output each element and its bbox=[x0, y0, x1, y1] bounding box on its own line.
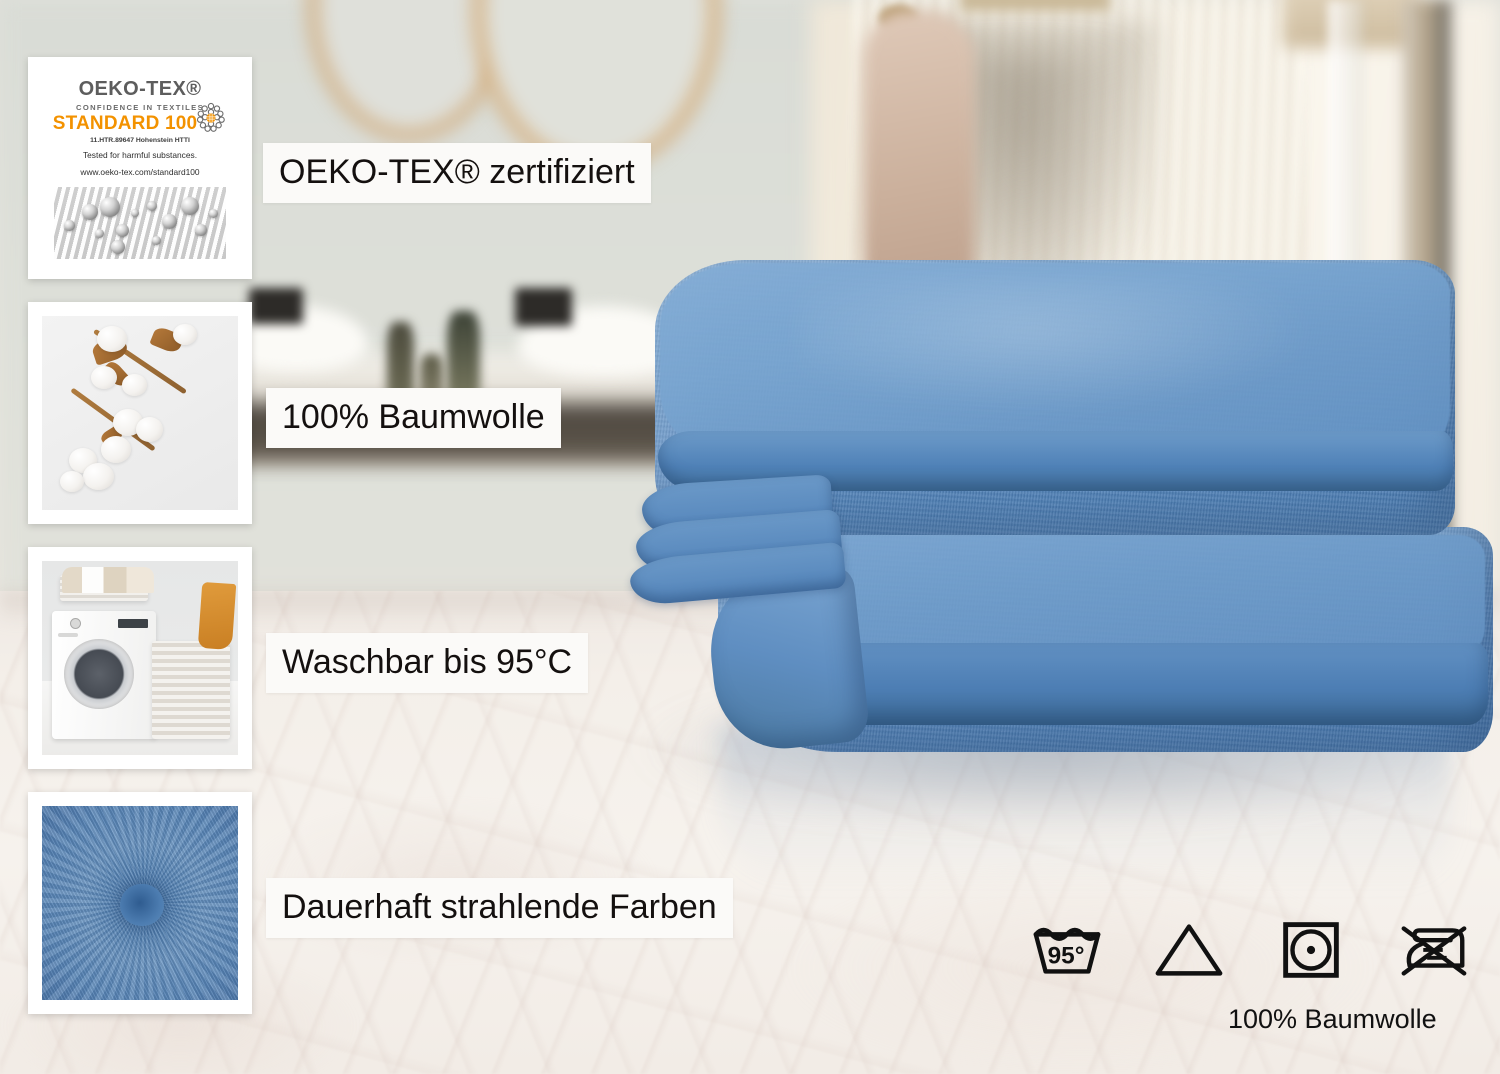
faucet-right bbox=[515, 288, 572, 327]
product-marketing-image: OEKO-TEX® CONFIDENCE IN TEXTILES STANDAR… bbox=[0, 0, 1500, 1074]
wash-tub-icon: 95° bbox=[1028, 918, 1106, 980]
feature-banner-oeko-tex: OEKO-TEX® zertifiziert bbox=[263, 143, 651, 203]
washing-machine-dial bbox=[70, 618, 81, 629]
oeko-tex-flower-icon bbox=[194, 101, 228, 135]
laundry-hamper bbox=[152, 641, 230, 739]
oeko-tex-label: OEKO-TEX® CONFIDENCE IN TEXTILES STANDAR… bbox=[42, 71, 238, 265]
thumbnail-oeko-tex-certificate: OEKO-TEX® CONFIDENCE IN TEXTILES STANDAR… bbox=[28, 57, 252, 279]
oeko-tex-claim: Tested for harmful substances. bbox=[42, 149, 238, 161]
faucet-left bbox=[249, 288, 303, 325]
feature-banner-colorfast: Dauerhaft strahlende Farben bbox=[266, 878, 733, 938]
oeko-tex-certificate-number: 11.HTR.89647 Hohenstein HTTI bbox=[42, 137, 238, 144]
feature-banner-cotton: 100% Baumwolle bbox=[266, 388, 561, 448]
washing-machine bbox=[52, 611, 156, 739]
towel-swirl-center bbox=[120, 884, 163, 927]
orange-towel-on-hamper bbox=[198, 582, 237, 650]
svg-text:95°: 95° bbox=[1048, 943, 1085, 970]
washing-machine-door bbox=[64, 639, 134, 709]
tumble-dry-icon bbox=[1272, 918, 1350, 980]
folded-linens bbox=[62, 567, 154, 593]
oeko-tex-brand: OEKO-TEX® bbox=[42, 79, 238, 99]
washing-machine-display bbox=[118, 619, 148, 628]
bleach-triangle-icon bbox=[1150, 918, 1228, 980]
cotton-branch-photo bbox=[42, 316, 238, 510]
thumbnail-cotton-branch bbox=[28, 302, 252, 524]
oeko-tex-url: www.oeko-tex.com/standard100 bbox=[42, 166, 238, 178]
towel-upper-top-face bbox=[660, 263, 1450, 448]
stacked-towels-product bbox=[600, 255, 1480, 815]
thumbnail-towel-texture bbox=[28, 792, 252, 1014]
background-shelf bbox=[960, 0, 1110, 11]
blue-towel-swirl-photo bbox=[42, 806, 238, 1000]
thumbnail-washing-machine bbox=[28, 547, 252, 769]
oeko-tex-fabric-illustration bbox=[54, 187, 226, 259]
care-caption-material: 100% Baumwolle bbox=[1228, 1004, 1437, 1035]
feature-banner-washable: Waschbar bis 95°C bbox=[266, 633, 588, 693]
washing-machine-drawer-handle bbox=[58, 633, 78, 637]
care-symbols-group: 95° 100% Baumwolle bbox=[1020, 918, 1480, 1048]
laundry-room-photo bbox=[42, 561, 238, 755]
no-iron-icon bbox=[1394, 918, 1472, 980]
